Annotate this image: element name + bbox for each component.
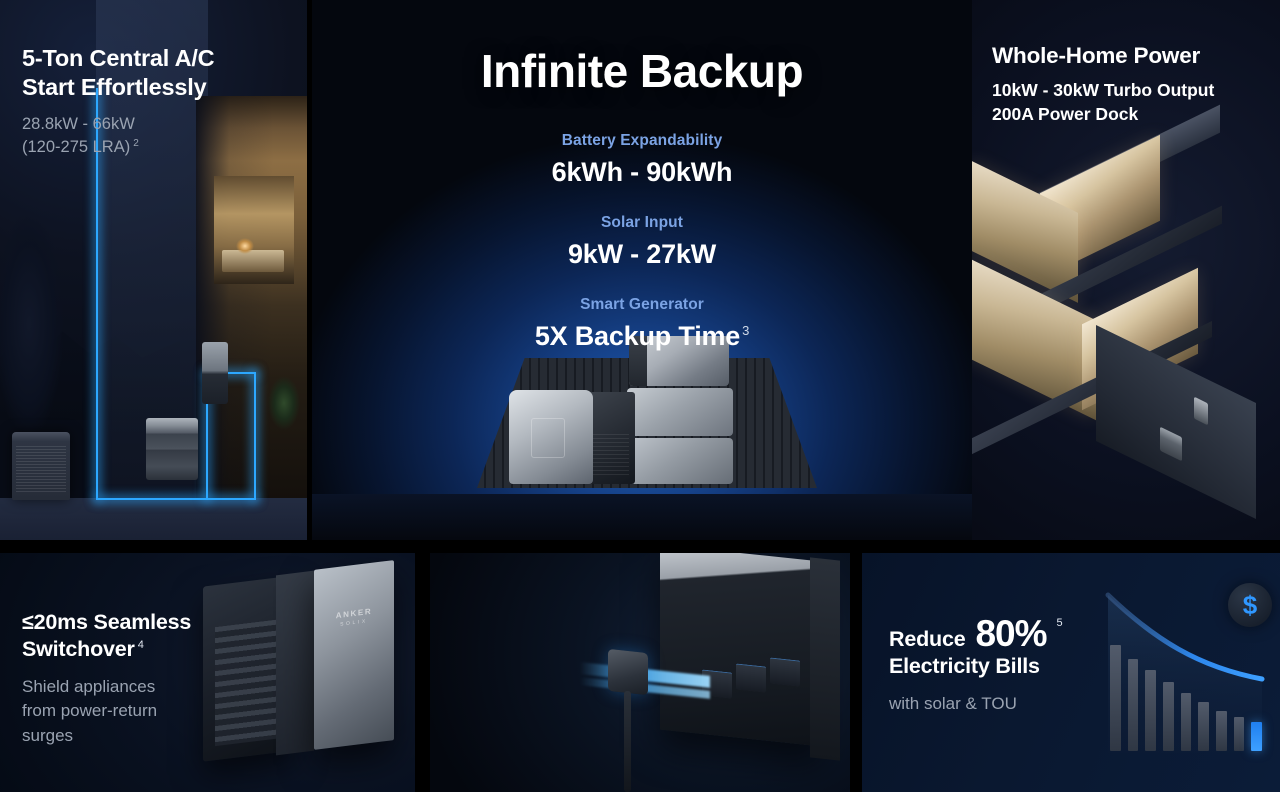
hero-spec-battery: Battery Expandability 6kWh - 90kWh xyxy=(312,132,972,188)
bar-item xyxy=(1181,693,1192,751)
spec-value-solar: 9kW - 27kW xyxy=(312,239,972,270)
hero-spec-solar: Solar Input 9kW - 27kW xyxy=(312,214,972,270)
power-station-unit xyxy=(509,390,593,484)
ac-footnote-marker: 2 xyxy=(133,138,139,149)
bar-item-highlight xyxy=(1251,722,1262,751)
bills-footnote-marker: 5 xyxy=(1057,617,1063,629)
hero-spec-generator: Smart Generator 5X Backup Time3 xyxy=(312,296,972,352)
bills-title-row: Reduce 80% 5 xyxy=(889,615,1139,652)
ground-floor xyxy=(0,498,307,540)
ac-title-line2: Start Effortlessly xyxy=(22,73,292,102)
bills-title-line2: Electricity Bills xyxy=(889,654,1139,679)
spec-label-solar: Solar Input xyxy=(312,214,972,232)
spec-label-generator: Smart Generator xyxy=(312,296,972,314)
battery-module-middle xyxy=(627,388,733,436)
bills-sub-line1: with solar & TOU xyxy=(889,692,1139,716)
power-dock-unit xyxy=(660,553,820,746)
bills-title-percent: 80% xyxy=(975,615,1046,652)
glow-cable-segment xyxy=(254,372,256,500)
spec-value-solar-text: 9kW - 27kW xyxy=(568,239,716,269)
bills-title-prefix: Reduce xyxy=(889,627,965,652)
wall-inverter xyxy=(202,342,228,404)
switchover-sub-line3: surges xyxy=(22,724,252,748)
card-seamless-switchover: ANKER SOLIX ≤20ms Seamless Switchover4 S… xyxy=(0,553,415,792)
switchover-text-block: ≤20ms Seamless Switchover4 Shield applia… xyxy=(22,609,252,748)
dock-slot xyxy=(736,663,766,692)
home-sub-line2: 200A Power Dock xyxy=(992,103,1267,127)
card-effortless-setup: Effortless Setup Plug & Play with Full I… xyxy=(430,553,850,792)
hero-text-block: Infinite Backup Battery Expandability 6k… xyxy=(312,0,972,352)
switchover-title-line2: Switchover4 xyxy=(22,636,252,663)
bar-item xyxy=(1216,711,1227,751)
bills-text-block: Reduce 80% 5 Electricity Bills with sola… xyxy=(889,615,1139,716)
battery-system-product-image xyxy=(467,330,827,510)
plug-connector xyxy=(608,649,648,695)
panel-whole-home-power: Whole-Home Power 10kW - 30kW Turbo Outpu… xyxy=(972,0,1280,540)
switchover-footnote-marker: 4 xyxy=(138,639,144,651)
switchover-sub-line1: Shield appliances xyxy=(22,675,252,699)
home-sub-line1: 10kW - 30kW Turbo Output xyxy=(992,79,1267,103)
home-title: Whole-Home Power xyxy=(992,42,1267,69)
ac-headline-block: 5-Ton Central A/C Start Effortlessly 28.… xyxy=(22,44,292,159)
bar-item xyxy=(1163,682,1174,751)
switchover-title-line2-text: Switchover xyxy=(22,637,135,661)
home-headline-block: Whole-Home Power 10kW - 30kW Turbo Outpu… xyxy=(992,42,1267,126)
spec-value-battery-text: 6kWh - 90kWh xyxy=(552,157,733,187)
spec-value-generator-text: 5X Backup Time xyxy=(535,321,740,351)
dollar-symbol: $ xyxy=(1243,592,1257,618)
bar-item xyxy=(1234,717,1245,751)
product-feature-collage: 5-Ton Central A/C Start Effortlessly 28.… xyxy=(0,0,1280,792)
ac-sub-line2: (120-275 LRA)2 xyxy=(22,136,292,159)
spec-label-battery: Battery Expandability xyxy=(312,132,972,150)
generator-footnote-marker: 3 xyxy=(742,323,749,338)
glow-cable-segment xyxy=(96,498,256,500)
potted-plant xyxy=(268,376,307,466)
breaker-panel-inner xyxy=(276,571,314,756)
ac-condenser-unit xyxy=(12,432,70,500)
panel-infinite-backup: Infinite Backup Battery Expandability 6k… xyxy=(312,0,972,540)
bed xyxy=(222,250,284,272)
battery-module-bottom xyxy=(627,438,733,484)
card-reduce-bills: $ Reduce 80% 5 Electricity Bills with so… xyxy=(862,553,1280,792)
spec-value-generator: 5X Backup Time3 xyxy=(312,321,972,352)
switchover-title-line1: ≤20ms Seamless xyxy=(22,609,252,636)
panel-central-ac: 5-Ton Central A/C Start Effortlessly 28.… xyxy=(0,0,307,540)
power-cord xyxy=(624,691,631,792)
ac-sub-line1: 28.8kW - 66kW xyxy=(22,113,292,136)
power-unit-dark xyxy=(587,392,635,484)
spec-value-battery: 6kWh - 90kWh xyxy=(312,157,972,188)
bar-item xyxy=(1198,702,1209,751)
panel-cover-plate: ANKER SOLIX xyxy=(314,560,394,750)
anker-brand-label: ANKER SOLIX xyxy=(314,604,394,631)
lamp-glow xyxy=(236,238,254,254)
dollar-badge-icon: $ xyxy=(1228,583,1272,627)
isometric-house-cutaway xyxy=(978,150,1278,510)
ac-title-line1: 5-Ton Central A/C xyxy=(22,44,292,73)
battery-stack xyxy=(146,418,198,480)
ac-sub-line2-text: (120-275 LRA) xyxy=(22,138,130,156)
dock-slot xyxy=(770,657,800,686)
hero-title: Infinite Backup xyxy=(312,44,972,98)
dock-side-panel xyxy=(810,557,840,760)
switchover-sub-line2: from power-return xyxy=(22,699,252,723)
bar-item xyxy=(1145,670,1156,751)
